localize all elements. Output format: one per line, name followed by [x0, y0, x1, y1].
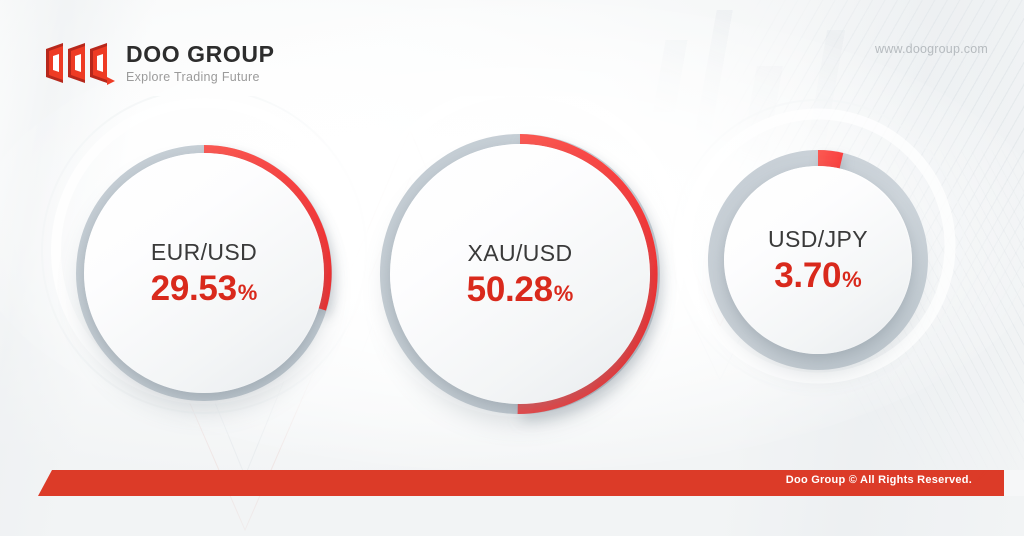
donut-xauusd-center: XAU/USD 50.28 %: [390, 144, 650, 404]
donut-chart-xauusd[interactable]: XAU/USD 50.28 %: [360, 114, 680, 434]
donut-eurusd-center: EUR/USD 29.53 %: [84, 153, 324, 393]
pct-number-eurusd: 29.53: [151, 271, 237, 306]
pct-number-xauusd: 50.28: [467, 272, 553, 307]
pair-label-xauusd: XAU/USD: [467, 242, 572, 265]
pct-sign-eurusd: %: [238, 282, 258, 304]
pair-label-usdjpy: USD/JPY: [768, 228, 868, 251]
pct-value-usdjpy: 3.70 %: [774, 258, 861, 293]
brand-logo: DOO GROUP Explore Trading Future: [44, 40, 275, 86]
donut-chart-eurusd[interactable]: EUR/USD 29.53 %: [56, 121, 352, 421]
infographic-canvas: DOO GROUP Explore Trading Future www.doo…: [0, 0, 1024, 536]
pct-sign-xauusd: %: [554, 283, 574, 305]
donut-chart-usdjpy[interactable]: USD/JPY 3.70 %: [700, 138, 936, 382]
footer-copyright: Doo Group © All Rights Reserved.: [786, 474, 972, 486]
website-url: www.doogroup.com: [875, 42, 988, 56]
pct-sign-usdjpy: %: [842, 269, 862, 291]
pct-value-xauusd: 50.28 %: [467, 272, 574, 307]
pct-value-eurusd: 29.53 %: [151, 271, 258, 306]
pct-number-usdjpy: 3.70: [774, 258, 841, 293]
brand-tagline: Explore Trading Future: [126, 70, 275, 84]
pair-label-eurusd: EUR/USD: [151, 241, 257, 264]
donut-chart-group: EUR/USD 29.53 %: [0, 118, 1024, 438]
doo-logo-mark: [44, 40, 116, 86]
brand-title: DOO GROUP: [126, 42, 275, 66]
donut-usdjpy-center: USD/JPY 3.70 %: [724, 166, 912, 354]
